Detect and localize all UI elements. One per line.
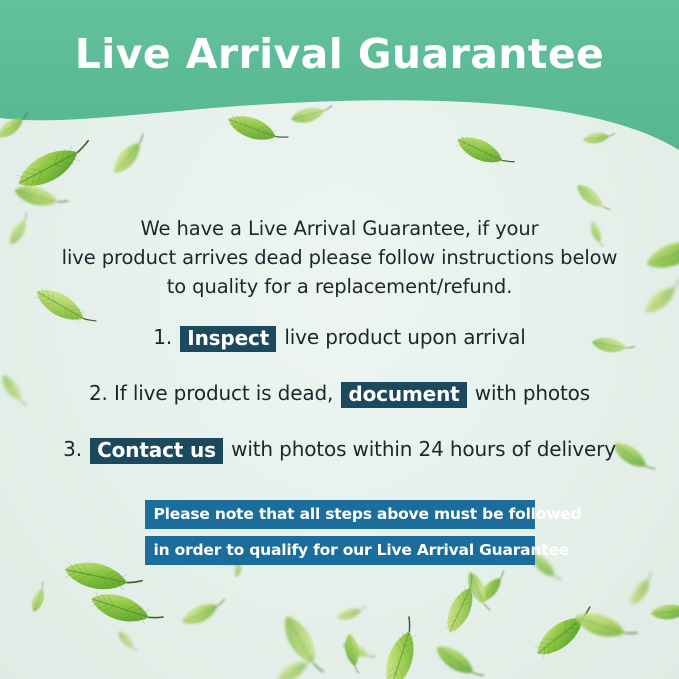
step-1-chip-inspect: Inspect (180, 326, 276, 352)
notice-line-2: in order to qualify for our Live Arrival… (145, 536, 535, 565)
step-item-1: 1. Inspect live product upon arrival (0, 325, 679, 351)
step-3-text-after: with photos within 24 hours of delivery (231, 437, 616, 461)
step-3-chip-contact-us: Contact us (90, 438, 223, 464)
notice-banner: Please note that all steps above must be… (145, 500, 535, 565)
step-item-3: 3. Contact us with photos within 24 hour… (0, 437, 679, 463)
page-title: Live Arrival Guarantee (0, 30, 679, 78)
intro-line-2: live product arrives dead please follow … (60, 243, 620, 272)
notice-line-1: Please note that all steps above must be… (145, 500, 535, 529)
step-1-number: 1. (153, 325, 172, 349)
step-2-number: 2. (89, 381, 108, 405)
intro-line-1: We have a Live Arrival Guarantee, if you… (60, 214, 620, 243)
step-item-2: 2. If live product is dead, document wit… (0, 381, 679, 407)
step-2-text-before: If live product is dead, (114, 381, 333, 405)
live-arrival-guarantee-poster: Live Arrival Guarantee We have a Live Ar… (0, 0, 679, 679)
step-1-text-after: live product upon arrival (284, 325, 525, 349)
intro-paragraph: We have a Live Arrival Guarantee, if you… (60, 214, 620, 301)
step-2-text-after: with photos (475, 381, 590, 405)
intro-line-3: to quality for a replacement/refund. (60, 272, 620, 301)
step-3-number: 3. (63, 437, 82, 461)
step-2-chip-document: document (341, 382, 466, 408)
